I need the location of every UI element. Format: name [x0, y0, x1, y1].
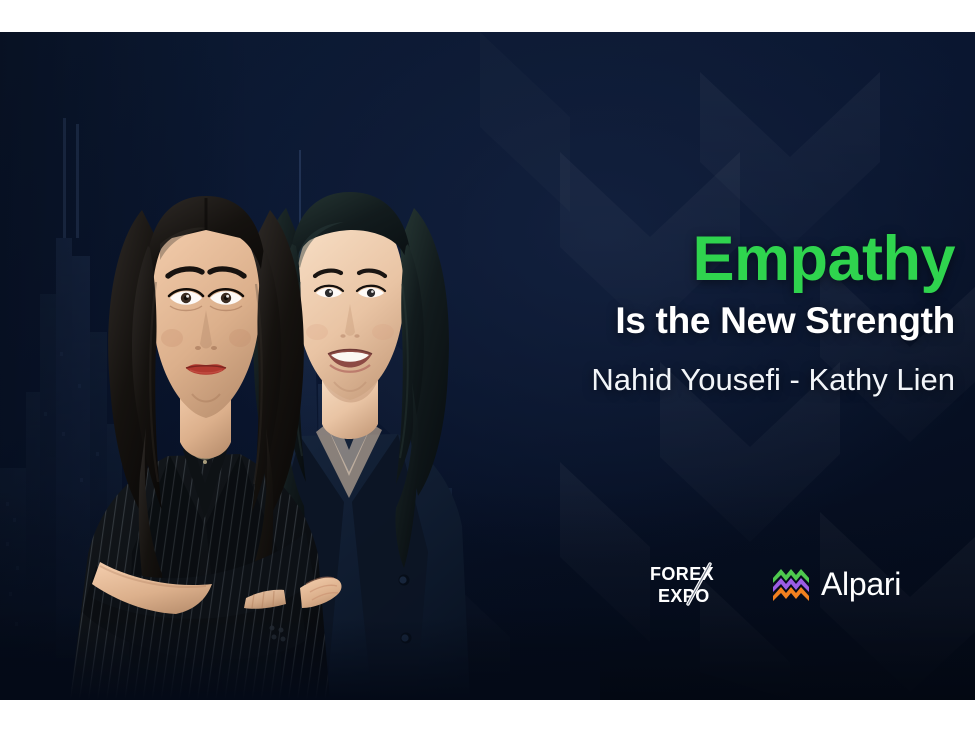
alpari-wordmark: Alpari [821, 568, 901, 600]
headline-block: Empathy Is the New Strength Nahid Yousef… [535, 228, 955, 398]
alpari-mark-icon [770, 566, 812, 602]
svg-text:EXPO: EXPO [658, 586, 710, 606]
headline-primary: Empathy [535, 228, 955, 291]
alpari-logo[interactable]: Alpari [770, 566, 901, 602]
speaker-photo-group [0, 32, 600, 700]
promo-banner-page: Empathy Is the New Strength Nahid Yousef… [0, 0, 975, 732]
headline-secondary: Is the New Strength [535, 299, 955, 343]
event-promo-banner: Empathy Is the New Strength Nahid Yousef… [0, 32, 975, 700]
city-skyline-backdrop [0, 32, 560, 700]
speaker-names: Nahid Yousefi - Kathy Lien [535, 361, 955, 398]
logo-row: FOREX EXPO Alpari [648, 560, 901, 608]
forex-expo-logo[interactable]: FOREX EXPO [648, 560, 740, 608]
